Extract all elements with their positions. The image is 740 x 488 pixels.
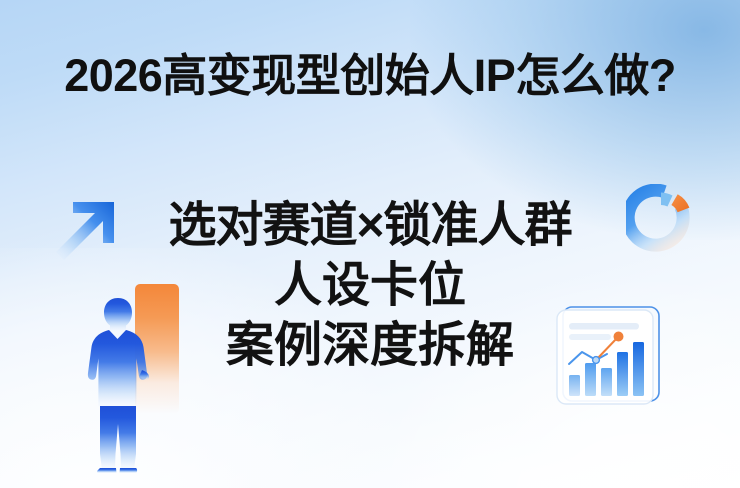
bar-chart-card-icon — [552, 300, 664, 410]
arrow-up-right-icon — [48, 196, 126, 274]
poster-canvas: 2026高变现型创始人IP怎么做? — [0, 0, 740, 488]
background-tint-bottom-left — [0, 248, 400, 488]
businessman-silhouette-group — [72, 282, 197, 477]
donut-chart-icon — [626, 184, 696, 254]
businessman-silhouette-icon — [72, 292, 164, 477]
page-title: 2026高变现型创始人IP怎么做? — [0, 52, 740, 100]
background-tint-bottom-right — [360, 268, 740, 488]
